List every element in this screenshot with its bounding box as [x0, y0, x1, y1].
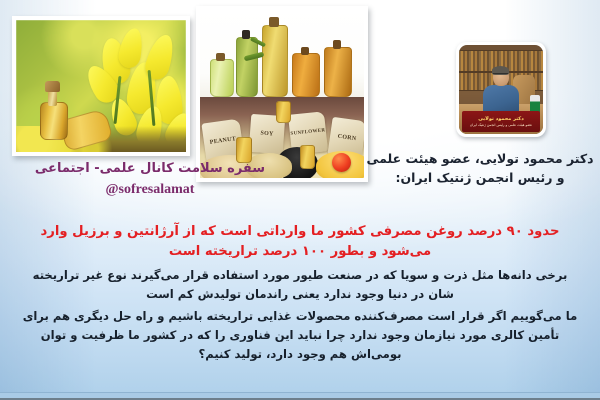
portrait-banner-name: دکتر محمود تولایی	[478, 117, 524, 122]
paragraph-1: برخی دانه‌ها مثل ذرت و سویا که در صنعت ط…	[14, 266, 586, 304]
mini-oil-bottle-right	[300, 145, 315, 169]
speaker-glasses-icon	[493, 73, 507, 77]
paragraph-2: ما می‌گوییم اگر قرار است مصرف‌کننده محصو…	[14, 307, 586, 363]
channel-caption: سفره سلامت کانال علمی- اجتماعی @sofresal…	[0, 160, 300, 200]
headline-text: حدود ۹۰ درصد روغن مصرفی کشور ما وارداتی …	[14, 222, 586, 263]
portrait-banner-title: عضو هیئت علمی و رئیس انجمن ژنتیک ایران	[470, 123, 532, 127]
canola-photo	[12, 16, 190, 156]
canola-oil-bottles	[22, 64, 108, 150]
sack-label-corn: CORN	[330, 133, 364, 144]
channel-handle[interactable]: @sofresalamat	[0, 180, 300, 200]
portrait-name-banner: دکتر محمود تولایی عضو هیئت علمی و رئیس ا…	[462, 111, 539, 132]
speaker-intro-text: دکتر محمود تولایی، عضو هیئت علمی و رئیس …	[366, 150, 594, 188]
channel-name: سفره سلامت کانال علمی- اجتماعی	[0, 160, 300, 179]
oils-and-seeds-photo: PEANUT SOY SUNFLOWER CORN	[196, 6, 368, 182]
news-poster: PEANUT SOY SUNFLOWER CORN	[0, 0, 600, 400]
sack-label-sunflower: SUNFLOWER	[290, 128, 326, 137]
bottom-strip	[0, 392, 600, 400]
mini-oil-bottle-center	[276, 101, 291, 123]
article-body: حدود ۹۰ درصد روغن مصرفی کشور ما وارداتی …	[14, 222, 586, 366]
speaker-portrait-photo: دکتر محمود تولایی عضو هیئت علمی و رئیس ا…	[456, 42, 546, 137]
oil-bottles-group	[200, 10, 364, 101]
sack-label-soy: SOY	[250, 130, 284, 138]
